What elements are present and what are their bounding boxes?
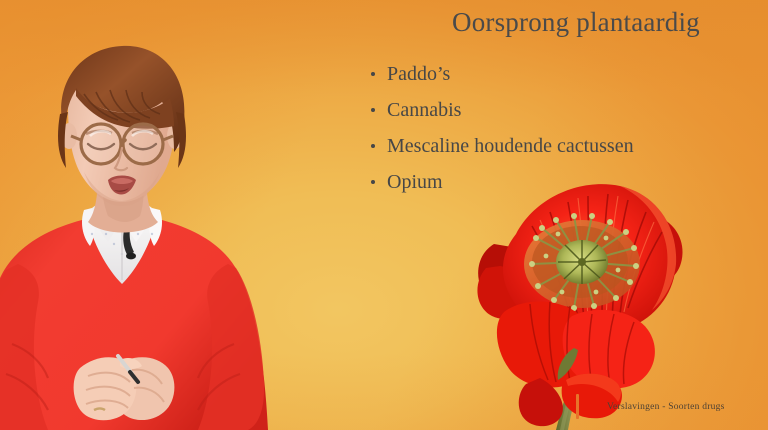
slide-canvas: Oorsprong plantaardig Paddo’s Cannabis M… [0, 0, 768, 430]
bullet-dot-icon [371, 108, 375, 112]
presenter-hands [74, 356, 175, 420]
list-item-label: Cannabis [387, 99, 461, 121]
list-item-label: Paddo’s [387, 63, 450, 85]
presenter-head [58, 46, 186, 206]
flower-seed-pod [556, 240, 608, 284]
presenter-video-figure [0, 44, 272, 430]
slide-title: Oorsprong plantaardig [452, 7, 768, 38]
list-item: Paddo’s [370, 56, 760, 92]
bullet-dot-icon [371, 72, 375, 76]
accent-bar-icon [576, 394, 579, 419]
list-item: Cannabis [370, 92, 760, 128]
footer-caption: Verslavingen - Soorten drugs [576, 394, 725, 419]
list-item: Mescaline houdende cactussen [370, 128, 760, 164]
footer-label: Verslavingen - Soorten drugs [607, 402, 725, 412]
list-item-label: Opium [387, 171, 443, 193]
list-item: Opium [370, 164, 760, 200]
bullet-list: Paddo’s Cannabis Mescaline houdende cact… [370, 56, 760, 200]
bullet-dot-icon [371, 144, 375, 148]
list-item-label: Mescaline houdende cactussen [387, 135, 634, 157]
poppy-flower-illustration [470, 172, 700, 430]
bullet-dot-icon [371, 180, 375, 184]
